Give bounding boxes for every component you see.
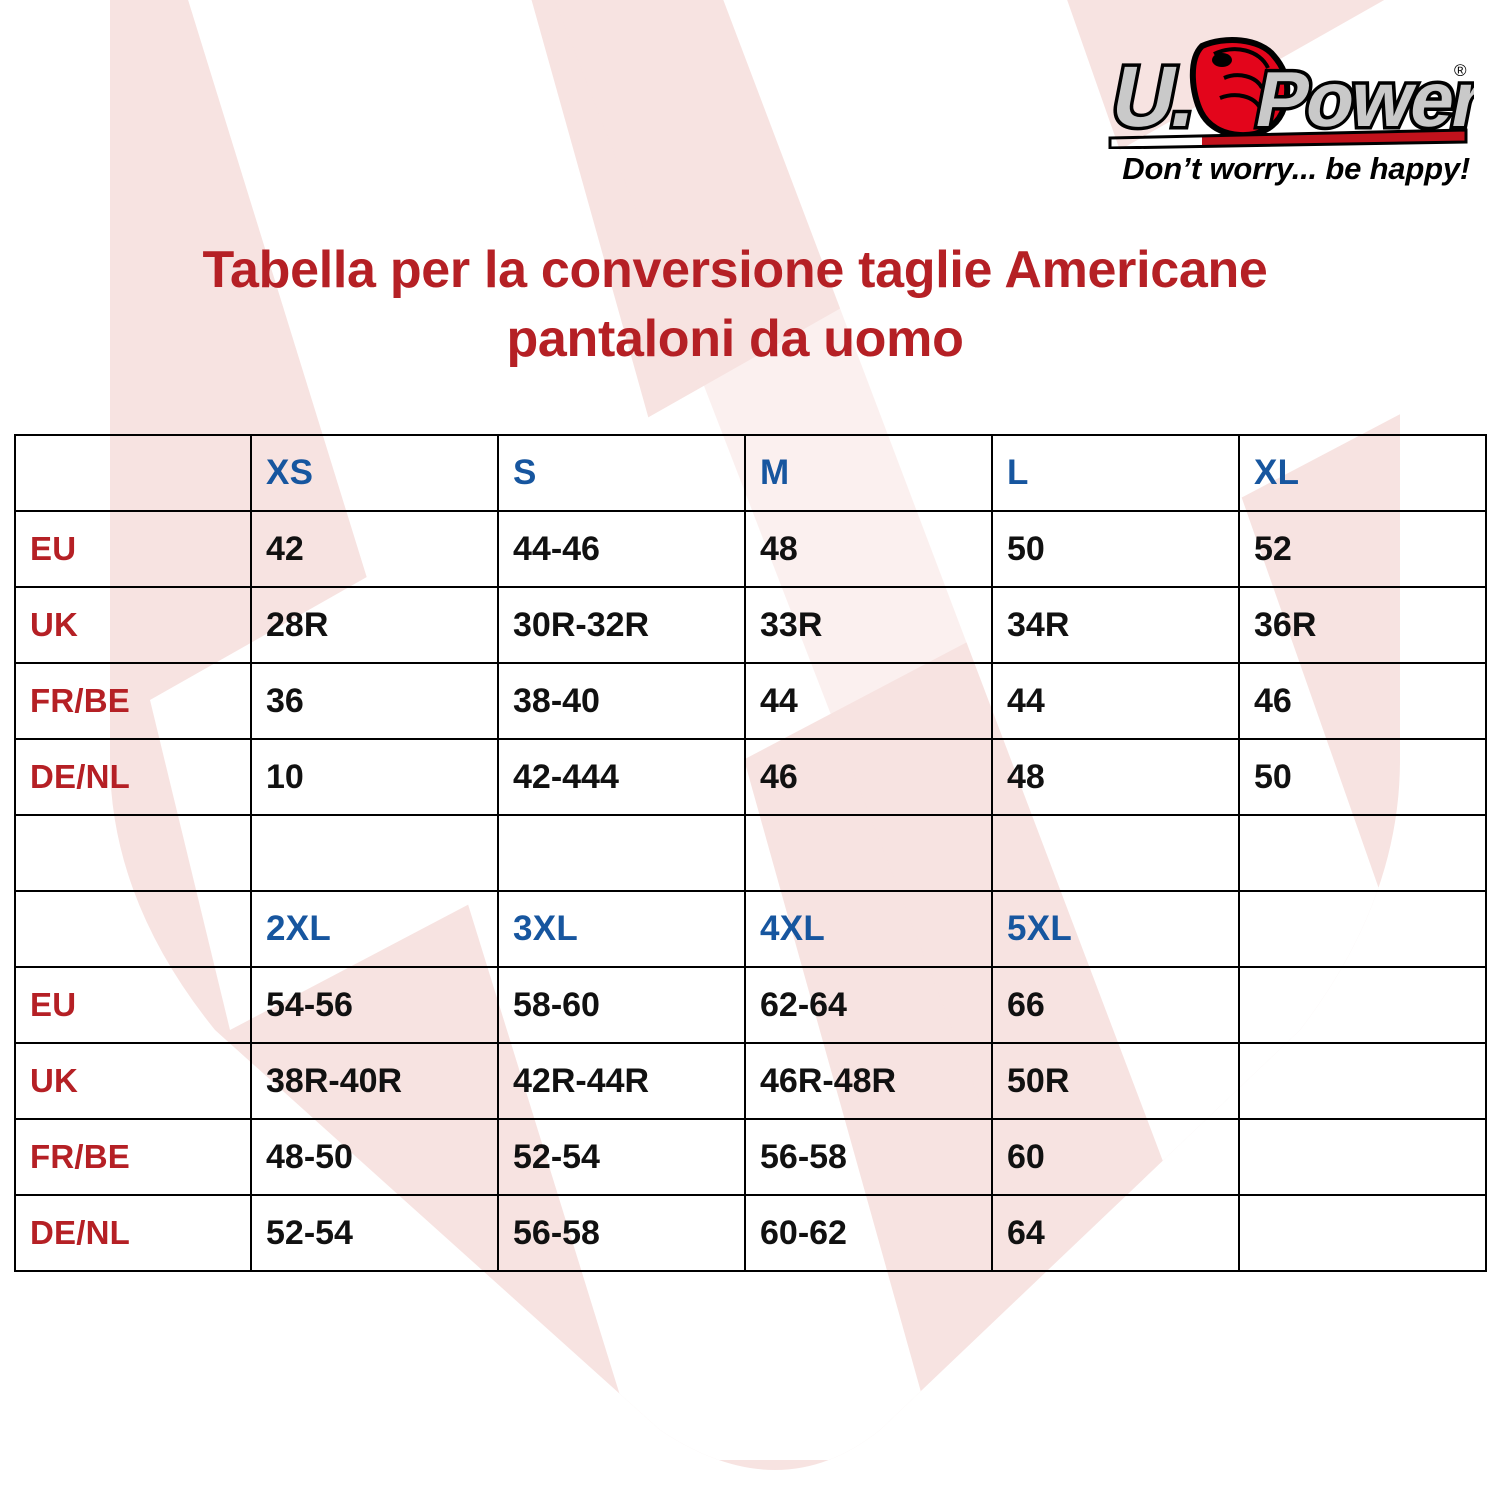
cell-eu-5xl: 66 <box>992 967 1239 1043</box>
size-header-2xl: 2XL <box>251 891 498 967</box>
cell-frbe-4xl: 56-58 <box>745 1119 992 1195</box>
cell-frbe-2xl: 48-50 <box>251 1119 498 1195</box>
cell-denl-s: 42-444 <box>498 739 745 815</box>
page-title-line1: Tabella per la conversione taglie Americ… <box>202 241 1267 299</box>
table-row: EU 54-56 58-60 62-64 66 <box>15 967 1486 1043</box>
page-title-line2: pantaloni da uomo <box>0 305 1470 374</box>
table-row: XS S M L XL <box>15 435 1486 511</box>
cell-frbe-xs: 36 <box>251 663 498 739</box>
spacer-cell <box>1239 815 1486 891</box>
cell-uk-l: 34R <box>992 587 1239 663</box>
cell-denl-4xl: 60-62 <box>745 1195 992 1271</box>
cell-uk-xs: 28R <box>251 587 498 663</box>
cell-uk-4xl: 46R-48R <box>745 1043 992 1119</box>
cell-denl-l: 48 <box>992 739 1239 815</box>
region-label-uk-2: UK <box>15 1043 251 1119</box>
cell-uk-s: 30R-32R <box>498 587 745 663</box>
cell-uk-2xl: 38R-40R <box>251 1043 498 1119</box>
size-header-3xl: 3XL <box>498 891 745 967</box>
size-header-l: L <box>992 435 1239 511</box>
cell-frbe-s: 38-40 <box>498 663 745 739</box>
page-title: Tabella per la conversione taglie Americ… <box>0 236 1470 373</box>
cell-uk-5xl: 50R <box>992 1043 1239 1119</box>
size-header-s: S <box>498 435 745 511</box>
table-row: UK 28R 30R-32R 33R 34R 36R <box>15 587 1486 663</box>
corner-cell <box>15 435 251 511</box>
cell-eu-xs: 42 <box>251 511 498 587</box>
size-header-xs: XS <box>251 435 498 511</box>
cell-uk-empty <box>1239 1043 1486 1119</box>
spacer-cell <box>251 815 498 891</box>
region-label-eu-2: EU <box>15 967 251 1043</box>
spacer-cell <box>992 815 1239 891</box>
table-row: FR/BE 36 38-40 44 44 46 <box>15 663 1486 739</box>
cell-uk-xl: 36R <box>1239 587 1486 663</box>
cell-denl-xs: 10 <box>251 739 498 815</box>
size-header-m: M <box>745 435 992 511</box>
size-conversion-table: XS S M L XL EU 42 44-46 48 50 52 UK 28R … <box>14 434 1487 1272</box>
cell-frbe-l: 44 <box>992 663 1239 739</box>
region-label-denl-2: DE/NL <box>15 1195 251 1271</box>
size-header-empty <box>1239 891 1486 967</box>
cell-denl-5xl: 64 <box>992 1195 1239 1271</box>
svg-text:U.: U. <box>1104 49 1203 145</box>
table-row: 2XL 3XL 4XL 5XL <box>15 891 1486 967</box>
table-row: DE/NL 52-54 56-58 60-62 64 <box>15 1195 1486 1271</box>
u-power-logo-mark: U. Power ® <box>1074 34 1474 149</box>
brand-tagline: Don’t worry... be happy! <box>1054 151 1474 187</box>
size-header-4xl: 4XL <box>745 891 992 967</box>
cell-eu-3xl: 58-60 <box>498 967 745 1043</box>
cell-frbe-3xl: 52-54 <box>498 1119 745 1195</box>
svg-text:®: ® <box>1454 61 1467 80</box>
table-row: DE/NL 10 42-444 46 48 50 <box>15 739 1486 815</box>
region-label-denl: DE/NL <box>15 739 251 815</box>
size-header-5xl: 5XL <box>992 891 1239 967</box>
cell-uk-m: 33R <box>745 587 992 663</box>
cell-denl-2xl: 52-54 <box>251 1195 498 1271</box>
spacer-cell <box>15 815 251 891</box>
region-label-frbe: FR/BE <box>15 663 251 739</box>
cell-frbe-5xl: 60 <box>992 1119 1239 1195</box>
cell-uk-3xl: 42R-44R <box>498 1043 745 1119</box>
cell-denl-m: 46 <box>745 739 992 815</box>
cell-denl-xl: 50 <box>1239 739 1486 815</box>
spacer-cell <box>498 815 745 891</box>
cell-frbe-xl: 46 <box>1239 663 1486 739</box>
table-row: UK 38R-40R 42R-44R 46R-48R 50R <box>15 1043 1486 1119</box>
cell-eu-4xl: 62-64 <box>745 967 992 1043</box>
cell-frbe-empty <box>1239 1119 1486 1195</box>
table-row: EU 42 44-46 48 50 52 <box>15 511 1486 587</box>
cell-eu-empty <box>1239 967 1486 1043</box>
region-label-eu: EU <box>15 511 251 587</box>
cell-frbe-m: 44 <box>745 663 992 739</box>
cell-denl-3xl: 56-58 <box>498 1195 745 1271</box>
size-header-xl: XL <box>1239 435 1486 511</box>
table-spacer-row <box>15 815 1486 891</box>
region-label-frbe-2: FR/BE <box>15 1119 251 1195</box>
cell-eu-m: 48 <box>745 511 992 587</box>
cell-denl-empty <box>1239 1195 1486 1271</box>
spacer-cell <box>745 815 992 891</box>
cell-eu-xl: 52 <box>1239 511 1486 587</box>
table-row: FR/BE 48-50 52-54 56-58 60 <box>15 1119 1486 1195</box>
corner-cell-2 <box>15 891 251 967</box>
cell-eu-2xl: 54-56 <box>251 967 498 1043</box>
cell-eu-l: 50 <box>992 511 1239 587</box>
region-label-uk: UK <box>15 587 251 663</box>
cell-eu-s: 44-46 <box>498 511 745 587</box>
brand-logo: U. Power ® Don’t worry... be happy! <box>1054 34 1474 187</box>
